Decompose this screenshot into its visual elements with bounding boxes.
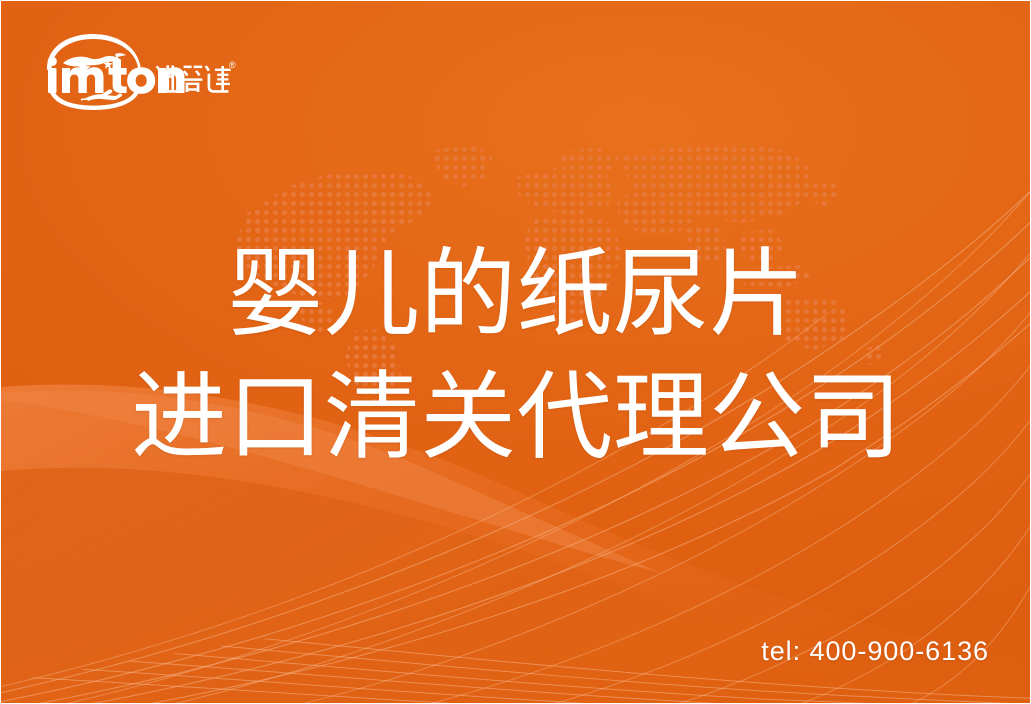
logo-chinese-name: [156, 65, 231, 92]
headline-line-2: 进口清关代理公司: [1, 357, 1031, 480]
headline-line-1: 婴儿的纸尿片: [1, 234, 1031, 357]
promotional-banner: ® 婴儿的纸尿片 进口清关代理公司 tel: 400-900-6136: [0, 0, 1031, 704]
contact-phone[interactable]: tel: 400-900-6136: [761, 636, 989, 667]
imton-logo[interactable]: ®: [37, 32, 237, 110]
page-title: 婴儿的纸尿片 进口清关代理公司: [1, 234, 1031, 480]
trademark-symbol: ®: [229, 60, 236, 70]
